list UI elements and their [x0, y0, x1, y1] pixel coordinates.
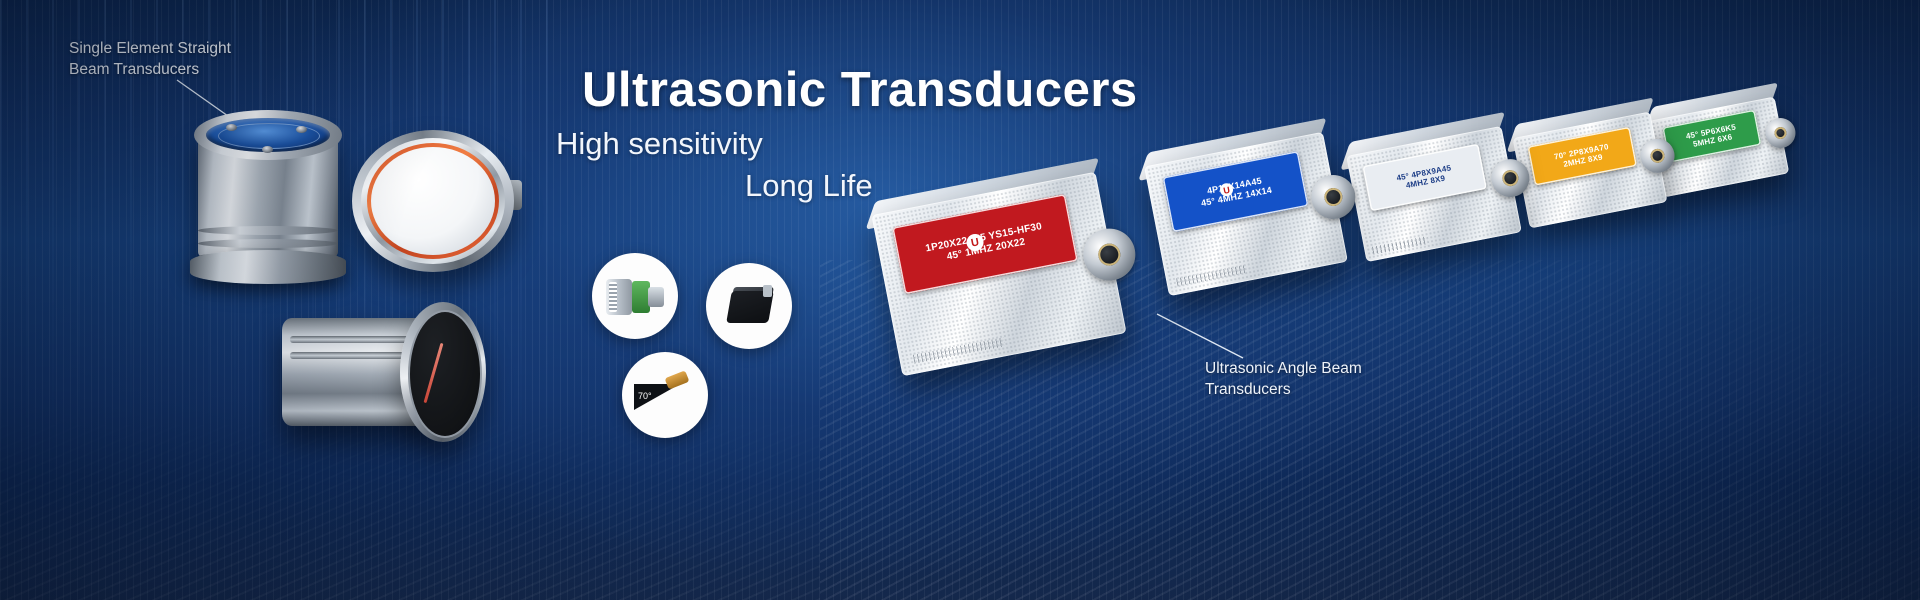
callout-angle-beam: Ultrasonic Angle Beam Transducers [1205, 358, 1362, 400]
subtitle-line-2: Long Life [745, 168, 873, 204]
thumb-part-connector [763, 285, 772, 297]
thumbnail-dual-element-transducer[interactable] [706, 263, 792, 349]
spec-frequency: 2MHZ [1563, 156, 1587, 169]
spec-angle: 45° [946, 249, 964, 263]
ultrasonic-transducers-banner: Ultrasonic Transducers High sensitivity … [0, 0, 1920, 600]
thumbnail-wedge-transducer[interactable]: 70° [622, 352, 708, 438]
thumb-part-ribbed [609, 282, 617, 312]
thumbnail-immersion-transducer[interactable] [592, 253, 678, 339]
angle-beam-transducer-blue[interactable]: 4P14X14A45 45° 4MHZ 14X14 U [1144, 132, 1348, 296]
barrel-groove [290, 336, 422, 343]
spec-size: 6X6 [1717, 132, 1733, 144]
callout-straight-beam-line1: Single Element Straight [69, 38, 231, 59]
thumb-angle-label: 70° [638, 391, 652, 401]
straight-beam-transducer-black-face [282, 300, 492, 452]
callout-straight-beam-line2: Beam Transducers [69, 59, 231, 80]
angle-beam-transducer-white[interactable]: 45° 4P8X9A45 4MHZ 8X9 [1346, 126, 1522, 262]
straight-beam-transducer-blue-face [192, 108, 364, 276]
callout-straight-beam: Single Element Straight Beam Transducers [69, 38, 231, 80]
callout-angle-beam-line1: Ultrasonic Angle Beam [1205, 358, 1362, 379]
spec-angle: 45° [1200, 196, 1216, 209]
thumb-part-connector [648, 287, 664, 307]
bolt-icon [296, 126, 307, 133]
angle-beam-transducer-orange[interactable]: 70° 2P8X9A70 2MHZ 8X9 [1513, 111, 1668, 228]
straight-beam-transducer-white-face [352, 130, 520, 280]
spec-size: 8X9 [1430, 174, 1446, 186]
leader-line-right [1155, 312, 1250, 364]
subtitle-line-1: High sensitivity [556, 126, 763, 162]
angle-beam-transducer-red[interactable]: 1P20X22A45 YS15-HF30 45° 1MHZ 20X22 U [871, 172, 1126, 376]
bolt-icon [226, 124, 237, 131]
transducer-white-face [371, 147, 495, 255]
bolt-icon [262, 146, 273, 153]
body-ring [198, 239, 338, 248]
transducer-black-face [408, 310, 482, 438]
transducer-base-skirt [190, 250, 346, 284]
callout-angle-beam-line2: Transducers [1205, 379, 1362, 400]
floor-reflection [0, 480, 1920, 600]
spec-size: 8X9 [1587, 152, 1603, 164]
page-title: Ultrasonic Transducers [582, 62, 1138, 118]
body-ring [198, 226, 338, 235]
